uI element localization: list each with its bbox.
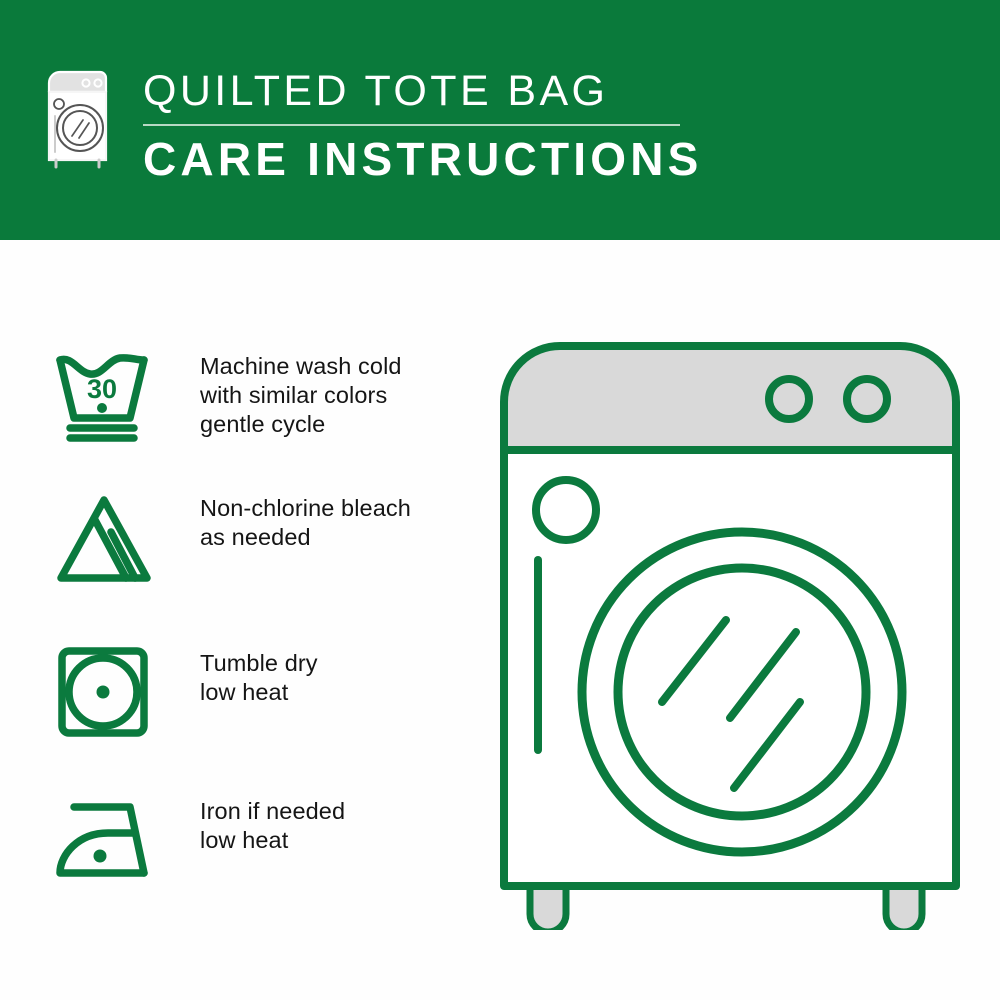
care-row-machine-wash: 30 Machine wash cold with similar colors… [52, 348, 462, 449]
front-load-washing-machine-illustration [490, 330, 970, 930]
care-text-bleach: Non-chlorine bleach as needed [200, 490, 411, 552]
header-banner: QUILTED TOTE BAG CARE INSTRUCTIONS [0, 0, 1000, 240]
care-text-line: low heat [200, 826, 345, 855]
care-instructions-page: QUILTED TOTE BAG CARE INSTRUCTIONS [0, 0, 1000, 1000]
non-chlorine-bleach-symbol [52, 490, 156, 591]
washing-machine-icon [46, 66, 110, 170]
care-text-line: Tumble dry [200, 649, 318, 678]
care-text-iron: Iron if needed low heat [200, 793, 345, 855]
page-title: QUILTED TOTE BAG [143, 66, 843, 116]
header-text-block: QUILTED TOTE BAG CARE INSTRUCTIONS [143, 66, 843, 186]
wash-temperature-label: 30 [87, 374, 117, 404]
machine-cabinet [504, 450, 956, 886]
care-text-line: gentle cycle [200, 410, 402, 439]
care-row-iron: Iron if needed low heat [52, 793, 462, 894]
title-divider [143, 124, 680, 126]
iron-low-heat-symbol [52, 793, 156, 894]
care-text-line: as needed [200, 523, 411, 552]
care-text-line: Iron if needed [200, 797, 345, 826]
machine-wash-cold-symbol: 30 [52, 348, 156, 449]
page-subtitle: CARE INSTRUCTIONS [143, 132, 843, 186]
care-text-tumble-dry: Tumble dry low heat [200, 645, 318, 707]
care-text-line: Non-chlorine bleach [200, 494, 411, 523]
care-text-line: with similar colors [200, 381, 402, 410]
care-text-line: Machine wash cold [200, 352, 402, 381]
tumble-dry-low-symbol [52, 645, 156, 746]
care-text-line: low heat [200, 678, 318, 707]
care-instruction-list: 30 Machine wash cold with similar colors… [0, 240, 470, 1000]
care-row-bleach: Non-chlorine bleach as needed [52, 490, 462, 591]
care-row-tumble-dry: Tumble dry low heat [52, 645, 462, 746]
care-text-machine-wash: Machine wash cold with similar colors ge… [200, 348, 402, 439]
